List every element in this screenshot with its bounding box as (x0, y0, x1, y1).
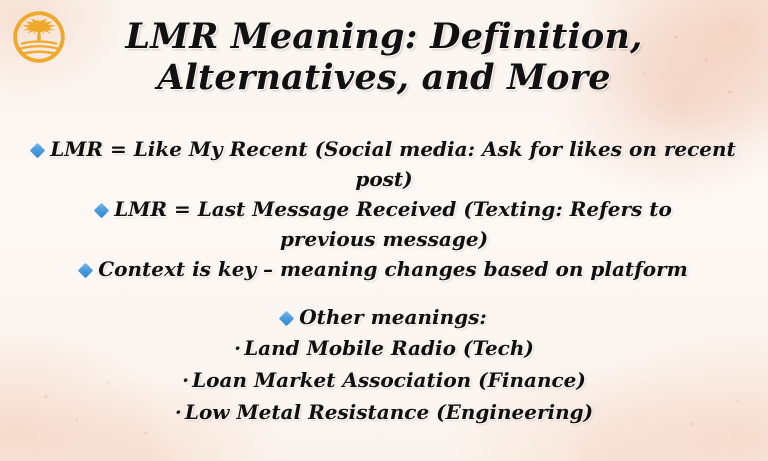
other-meanings-item-1-text: Land Mobile Radio (Tech) (244, 336, 534, 360)
bullet-item-3-text: Context is key – meaning changes based o… (98, 257, 688, 281)
middot-bullet-icon: · (182, 364, 189, 396)
middot-bullet-icon: · (175, 396, 182, 428)
page-title: LMR Meaning: Definition, Alternatives, a… (0, 16, 768, 99)
blue-diamond-bullet-icon (78, 262, 94, 278)
other-meanings-item-1: ·Land Mobile Radio (Tech) (14, 332, 754, 364)
bullet-list: LMR = Like My Recent (Social media: Ask … (0, 134, 768, 284)
blue-diamond-bullet-icon (30, 142, 46, 158)
other-meanings-item-2: ·Loan Market Association (Finance) (14, 364, 754, 396)
bullet-item-3: Context is key – meaning changes based o… (14, 254, 754, 284)
blue-diamond-bullet-icon (279, 310, 295, 326)
other-meanings-item-2-text: Loan Market Association (Finance) (192, 368, 586, 392)
bullet-item-2: LMR = Last Message Received (Texting: Re… (14, 194, 754, 254)
middot-bullet-icon: · (234, 332, 241, 364)
page-title-line-1: LMR Meaning: Definition, (80, 16, 688, 57)
bullet-item-1: LMR = Like My Recent (Social media: Ask … (14, 134, 754, 194)
slide-canvas: LMR Meaning: Definition, Alternatives, a… (0, 0, 768, 461)
other-meanings-block: Other meanings: ·Land Mobile Radio (Tech… (0, 302, 768, 428)
other-meanings-item-3-text: Low Metal Resistance (Engineering) (185, 400, 593, 424)
bullet-item-2-text: LMR = Last Message Received (Texting: Re… (114, 197, 672, 251)
slide-content: LMR Meaning: Definition, Alternatives, a… (0, 0, 768, 461)
page-title-line-2: Alternatives, and More (80, 57, 688, 98)
blue-diamond-bullet-icon (94, 202, 110, 218)
bullet-item-1-text: LMR = Like My Recent (Social media: Ask … (50, 137, 736, 191)
other-meanings-heading: Other meanings: (14, 302, 754, 332)
other-meanings-item-3: ·Low Metal Resistance (Engineering) (14, 396, 754, 428)
other-meanings-heading-text: Other meanings: (299, 305, 487, 329)
